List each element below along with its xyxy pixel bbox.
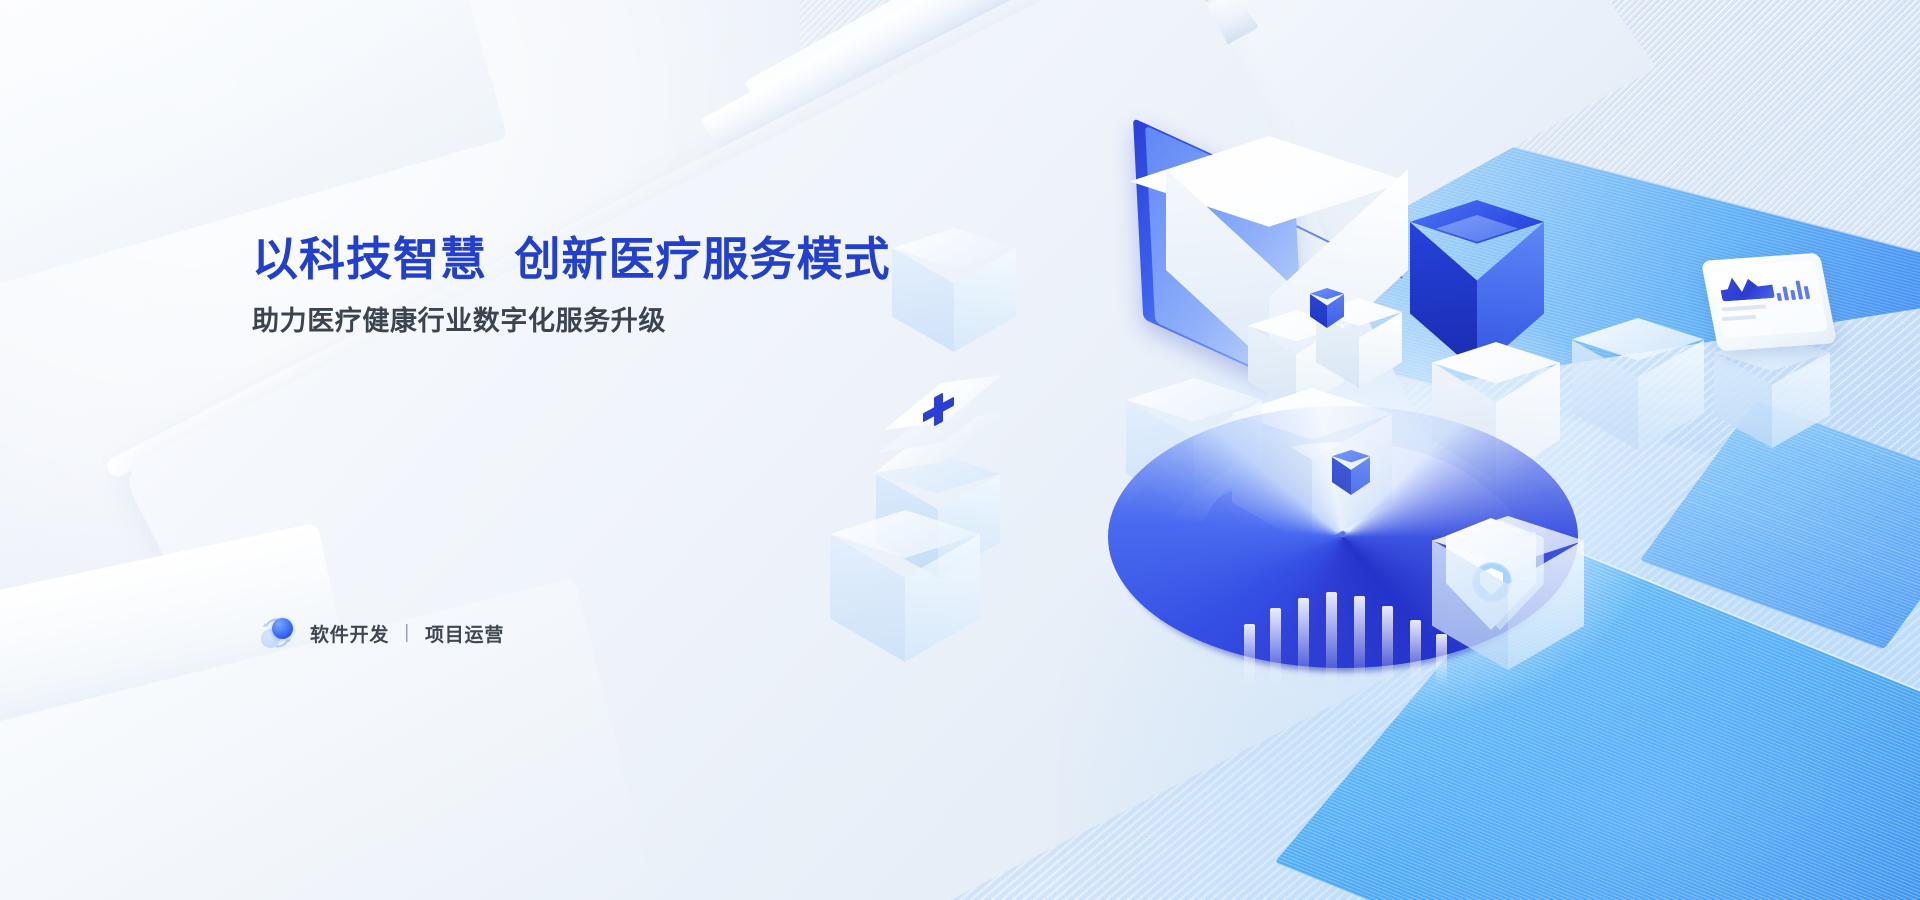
chart-bar	[1804, 286, 1811, 299]
vital-signs-monitor	[1710, 256, 1840, 376]
chart-bar	[1790, 290, 1796, 300]
chart-bar	[1782, 286, 1789, 300]
tag-label-software-development: 软件开发	[310, 620, 389, 647]
tag-items: 软件开发 | 项目运营	[310, 620, 504, 647]
light-fin	[1298, 598, 1309, 686]
light-fin	[1436, 634, 1447, 686]
light-fin	[1410, 620, 1421, 686]
page-subtitle: 助力医疗健康行业数字化服务升级	[252, 304, 891, 339]
bar-chart-icon	[1774, 277, 1812, 301]
tag-row: 软件开发 | 项目运营	[258, 614, 504, 652]
chart-bar	[1795, 281, 1803, 300]
ambient-light-top-left	[0, 0, 920, 680]
chart-bar	[1776, 293, 1782, 301]
tag-label-project-operation: 项目运营	[425, 620, 504, 647]
background-slab-bottom-left-upper	[0, 523, 346, 818]
light-fin	[1244, 624, 1255, 686]
light-fin	[1382, 606, 1393, 686]
page-title: 以科技智慧 创新医疗服务模式	[252, 232, 891, 286]
hero-banner: 以科技智慧 创新医疗服务模式 助力医疗健康行业数字化服务升级 软件开发 | 项目…	[0, 0, 1920, 900]
light-fin	[1354, 596, 1365, 686]
light-fin	[1270, 608, 1281, 686]
illustration-scene	[980, 120, 1920, 840]
light-fin	[1326, 592, 1337, 686]
copy-block: 以科技智慧 创新医疗服务模式 助力医疗健康行业数字化服务升级	[252, 232, 891, 339]
overlapping-circles-sync-icon	[258, 614, 296, 652]
tag-separator: |	[404, 622, 410, 644]
logo-circle-primary	[272, 618, 293, 639]
medical-book-stack	[868, 382, 1018, 512]
